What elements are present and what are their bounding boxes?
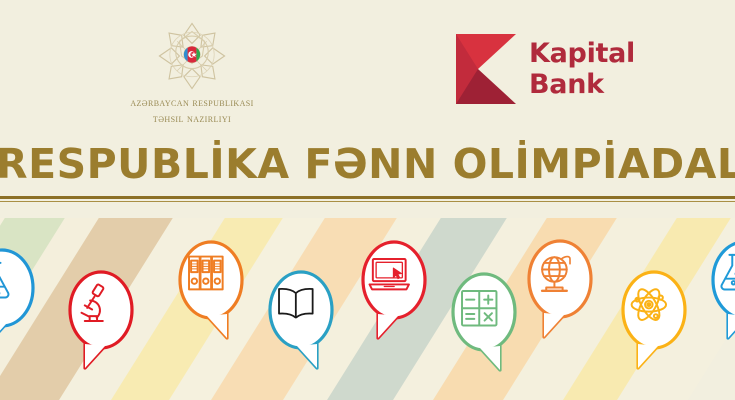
ministry-logo: Azərbaycan Respublikası Təhsil Nazirliyi [92,18,292,127]
kapital-bank-logo: Kapital Bank [456,34,635,104]
divider-line-thick [0,196,735,199]
subject-bubble-row [0,218,735,400]
bubble-biology-microscope[interactable] [55,266,147,370]
kapital-bank-wordmark: Kapital Bank [529,38,635,101]
title-block: RESPUBLİKA FƏNN OLİMPİADALARI [0,142,735,202]
bubble-informatics-laptop[interactable] [348,236,440,340]
kapital-bank-k-mark-icon [456,34,516,104]
flag-roundel [184,46,200,62]
ministry-line-1: Azərbaycan Respublikası [92,96,292,112]
ministry-name: Azərbaycan Respublikası Təhsil Nazirliyi [92,96,292,127]
bubble-physics-atom[interactable] [608,266,700,370]
bubble-chemistry-flask-left[interactable] [0,244,48,348]
bank-word-line-1: Kapital [529,38,635,69]
bubble-chemistry-flask-right[interactable] [698,236,735,340]
ministry-emblem [92,18,292,94]
bubble-shape [529,241,591,337]
bubble-literature-binders[interactable] [165,236,257,340]
bubble-geography-globe[interactable] [514,235,606,339]
bank-word-line-2: Bank [529,69,635,100]
page-title: RESPUBLİKA FƏNN OLİMPİADALARI [0,142,735,186]
divider-line-thin [0,201,735,202]
eight-pointed-star-ornament-icon [155,19,229,93]
bubble-reading-book[interactable] [255,266,347,370]
ministry-line-2: Təhsil Nazirliyi [92,112,292,128]
olympiad-banner: Azərbaycan Respublikası Təhsil Nazirliyi… [0,0,735,400]
binders-icon [189,257,223,290]
title-divider [0,196,735,202]
bubble-shape [270,272,332,368]
